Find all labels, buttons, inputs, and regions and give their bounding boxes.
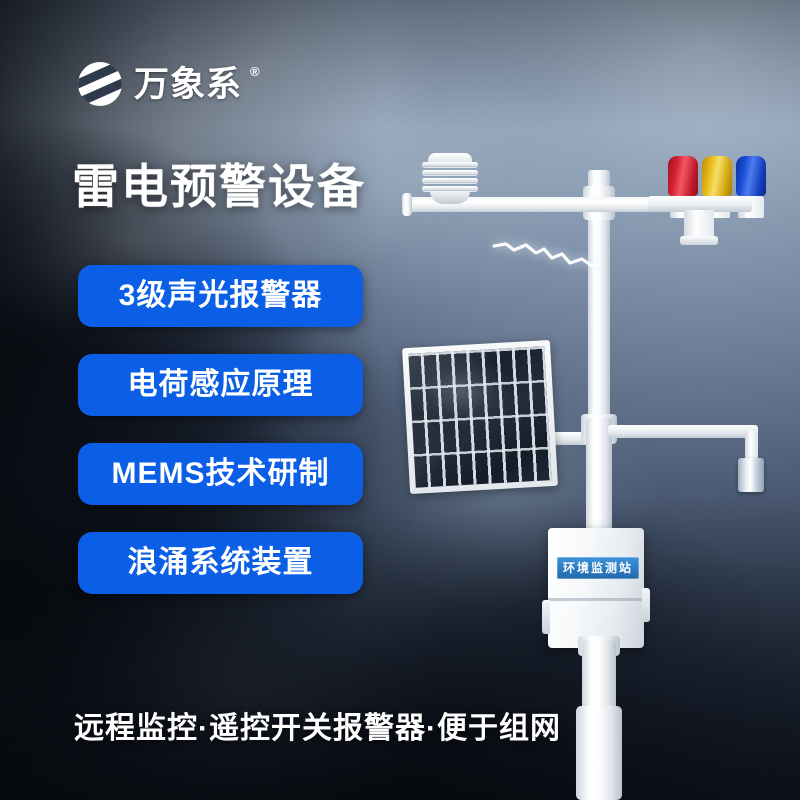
feature-pill[interactable]: MEMS技术研制 bbox=[78, 443, 363, 505]
amber-lamp-dome-icon bbox=[702, 156, 732, 196]
shield-fin bbox=[422, 170, 478, 175]
shield-fin bbox=[422, 162, 478, 167]
crossbar-end-cap bbox=[402, 193, 412, 216]
feature-pill-label: 3级声光报警器 bbox=[119, 281, 323, 311]
lightning-bolt-icon bbox=[492, 236, 602, 282]
solar-panel bbox=[402, 340, 558, 494]
feature-pill-label: 浪涌系统装置 bbox=[128, 548, 314, 578]
footer-tagline: 远程监控·遥控开关报警器·便于组网 bbox=[74, 714, 561, 744]
enclosure-mount-right bbox=[642, 588, 650, 622]
feature-pill[interactable]: 电荷感应原理 bbox=[78, 354, 363, 416]
promo-banner: 环境监测站 万象系 ® 雷电预警设备 3级声光报警器 电荷感应原理 MEMS技术… bbox=[0, 0, 800, 800]
feature-pill[interactable]: 3级声光报警器 bbox=[78, 265, 363, 327]
enclosure-mount-left bbox=[542, 600, 550, 634]
feature-pill-label: MEMS技术研制 bbox=[112, 459, 330, 489]
enclosure-label-badge: 环境监测站 bbox=[557, 557, 639, 579]
mast-lower-section bbox=[582, 640, 616, 712]
page-title: 雷电预警设备 bbox=[72, 163, 366, 210]
brand-lockup: 万象系 ® bbox=[78, 62, 260, 106]
solar-panel-glare bbox=[408, 346, 551, 487]
mast-base-section bbox=[576, 706, 622, 800]
blue-lamp-dome-icon bbox=[736, 156, 766, 196]
radiation-shield-sensor bbox=[422, 158, 478, 202]
registered-trademark-icon: ® bbox=[250, 64, 260, 79]
right-arm-sensor bbox=[738, 458, 764, 492]
shield-fin bbox=[422, 178, 478, 183]
enclosure-seam bbox=[548, 598, 644, 601]
red-lamp-dome-icon bbox=[668, 156, 698, 196]
feature-pill-label: 电荷感应原理 bbox=[128, 370, 314, 400]
solar-panel-glass bbox=[408, 346, 551, 487]
control-enclosure bbox=[548, 528, 644, 648]
enclosure-label-text: 环境监测站 bbox=[563, 562, 633, 574]
feature-pill[interactable]: 浪涌系统装置 bbox=[78, 532, 363, 594]
brand-name: 万象系 bbox=[134, 67, 242, 102]
swoosh-circle-logo-icon bbox=[78, 62, 122, 106]
feature-pill-list: 3级声光报警器 电荷感应原理 MEMS技术研制 浪涌系统装置 bbox=[78, 265, 363, 594]
right-sensor-arm-horizontal bbox=[608, 425, 758, 438]
alarm-lamp-stem-lip bbox=[680, 236, 718, 245]
